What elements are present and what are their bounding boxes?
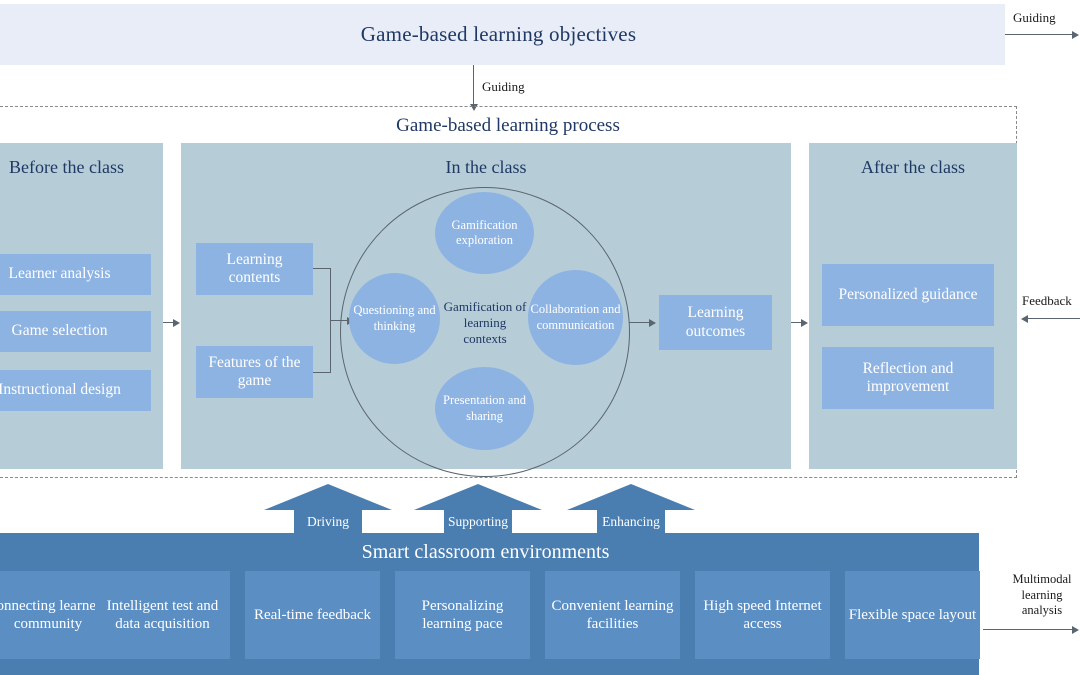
guiding-right-line [1005,34,1075,35]
circle-node-presentation-and-sharing[interactable]: Presentation and sharing [435,367,534,450]
multimodal-label-line-1: Multimodal [1003,572,1080,588]
box-learning-contents[interactable]: Learning contents [196,243,313,295]
circle-node-gamification-exploration[interactable]: Gamification exploration [435,192,534,274]
driving-label: Driving [264,514,392,530]
box-reflection-and-improvement[interactable]: Reflection and improvement [822,347,994,409]
feedback-arrowhead [1021,315,1028,323]
stage-panel-before: Before the class [0,143,163,469]
diagram-canvas: Game-based learning objectives Guiding G… [0,0,1080,675]
smart-box-intelligent-test[interactable]: Intelligent test and data acquisition [95,571,230,659]
smart-box-convenient-learning-facilities[interactable]: Convenient learning facilities [545,571,680,659]
supporting-label: Supporting [414,514,542,530]
objectives-title: Game-based learning objectives [361,22,636,47]
guiding-down-label: Guiding [482,79,525,95]
stage-title-in: In the class [181,157,791,178]
smart-box-high-speed-internet[interactable]: High speed Internet access [695,571,830,659]
circle-to-outcomes-arrowhead [649,319,656,327]
multimodal-label-line-2: learning [1003,588,1080,604]
circle-node-questioning-and-thinking[interactable]: Questioning and thinking [349,273,440,364]
enhancing-label: Enhancing [567,514,695,530]
stage-title-before: Before the class [0,157,163,178]
box-instructional-design[interactable]: Instructional design [0,370,151,411]
smart-box-flexible-space-layout[interactable]: Flexible space layout [845,571,980,659]
multimodal-line [983,629,1075,630]
box-learner-analysis[interactable]: Learner analysis [0,254,151,295]
multimodal-label: Multimodal learning analysis [1003,572,1080,619]
multimodal-label-line-3: analysis [1003,603,1080,619]
smart-box-personalizing-learning-pace[interactable]: Personalizing learning pace [395,571,530,659]
process-title: Game-based learning process [0,115,1016,137]
support-arrow-enhancing: Enhancing [567,484,695,536]
feedback-label: Feedback [1022,293,1072,309]
multimodal-arrowhead [1072,626,1079,634]
before-to-in-arrowhead [173,319,180,327]
circle-center-label: Gamification of learning contexts [443,293,527,353]
stage-title-after: After the class [809,157,1017,178]
support-arrow-driving: Driving [264,484,392,536]
contents-bracket-connector [313,268,331,373]
feedback-line [1028,318,1080,319]
objectives-banner: Game-based learning objectives [0,4,1005,65]
smart-classroom-title: Smart classroom environments [0,541,979,564]
circle-to-outcomes-line [629,322,651,323]
guiding-right-label: Guiding [1013,10,1056,26]
guiding-right-arrowhead [1072,31,1079,39]
circle-node-collaboration-and-communication[interactable]: Collaboration and communication [528,270,623,365]
box-features-of-the-game[interactable]: Features of the game [196,346,313,398]
box-personalized-guidance[interactable]: Personalized guidance [822,264,994,326]
box-learning-outcomes[interactable]: Learning outcomes [659,295,772,350]
in-to-after-arrowhead [801,319,808,327]
support-arrow-supporting: Supporting [414,484,542,536]
guiding-down-line [473,65,474,109]
box-game-selection[interactable]: Game selection [0,311,151,352]
smart-box-real-time-feedback[interactable]: Real-time feedback [245,571,380,659]
